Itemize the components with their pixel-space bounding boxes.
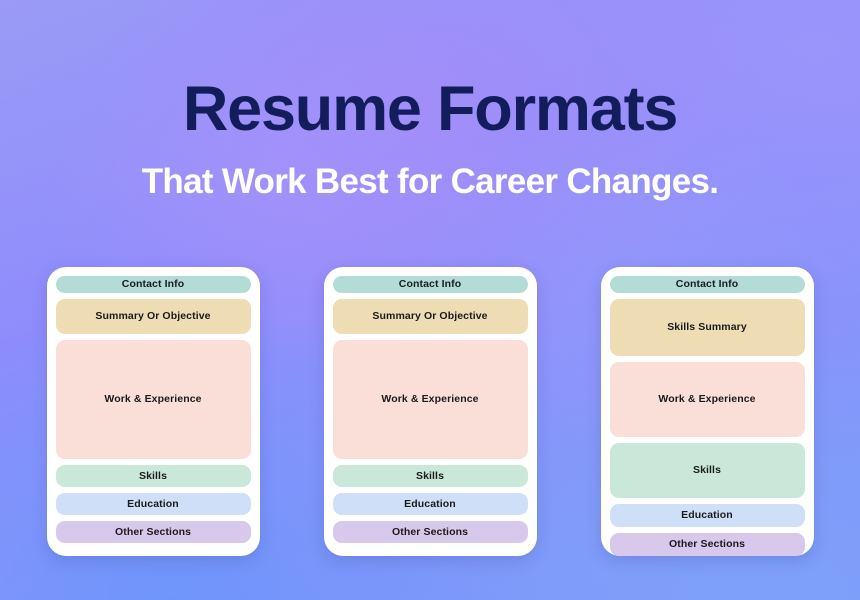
- resume-card-functional[interactable]: Contact InfoSkills SummaryWork & Experie…: [601, 267, 814, 556]
- resume-section-block[interactable]: Education: [56, 493, 251, 515]
- resume-section-list: Contact InfoSummary Or ObjectiveWork & E…: [333, 276, 528, 548]
- resume-section-block[interactable]: Skills: [56, 465, 251, 487]
- resume-section-list: Contact InfoSkills SummaryWork & Experie…: [610, 276, 805, 548]
- page-subtitle: That Work Best for Career Changes.: [0, 164, 860, 199]
- resume-section-block[interactable]: Contact Info: [56, 276, 251, 293]
- resume-section-block[interactable]: Skills: [610, 443, 805, 498]
- page-title: Resume Formats: [0, 78, 860, 141]
- resume-section-block[interactable]: Summary Or Objective: [333, 299, 528, 334]
- header: Resume Formats That Work Best for Career…: [0, 78, 860, 199]
- resume-format-cards: Contact InfoSummary Or ObjectiveWork & E…: [0, 267, 860, 557]
- resume-card-chronological[interactable]: Contact InfoSummary Or ObjectiveWork & E…: [47, 267, 260, 556]
- resume-section-block[interactable]: Education: [333, 493, 528, 515]
- resume-section-block[interactable]: Work & Experience: [610, 362, 805, 437]
- resume-card-combination[interactable]: Contact InfoSummary Or ObjectiveWork & E…: [324, 267, 537, 556]
- resume-section-block[interactable]: Other Sections: [333, 521, 528, 543]
- resume-section-block[interactable]: Summary Or Objective: [56, 299, 251, 334]
- resume-section-block[interactable]: Other Sections: [610, 533, 805, 556]
- resume-section-block[interactable]: Education: [610, 504, 805, 527]
- resume-section-block[interactable]: Work & Experience: [333, 340, 528, 459]
- resume-section-block[interactable]: Contact Info: [610, 276, 805, 293]
- resume-section-list: Contact InfoSummary Or ObjectiveWork & E…: [56, 276, 251, 548]
- resume-section-block[interactable]: Contact Info: [333, 276, 528, 293]
- resume-section-block[interactable]: Skills: [333, 465, 528, 487]
- resume-section-block[interactable]: Work & Experience: [56, 340, 251, 459]
- resume-section-block[interactable]: Skills Summary: [610, 299, 805, 356]
- resume-section-block[interactable]: Other Sections: [56, 521, 251, 543]
